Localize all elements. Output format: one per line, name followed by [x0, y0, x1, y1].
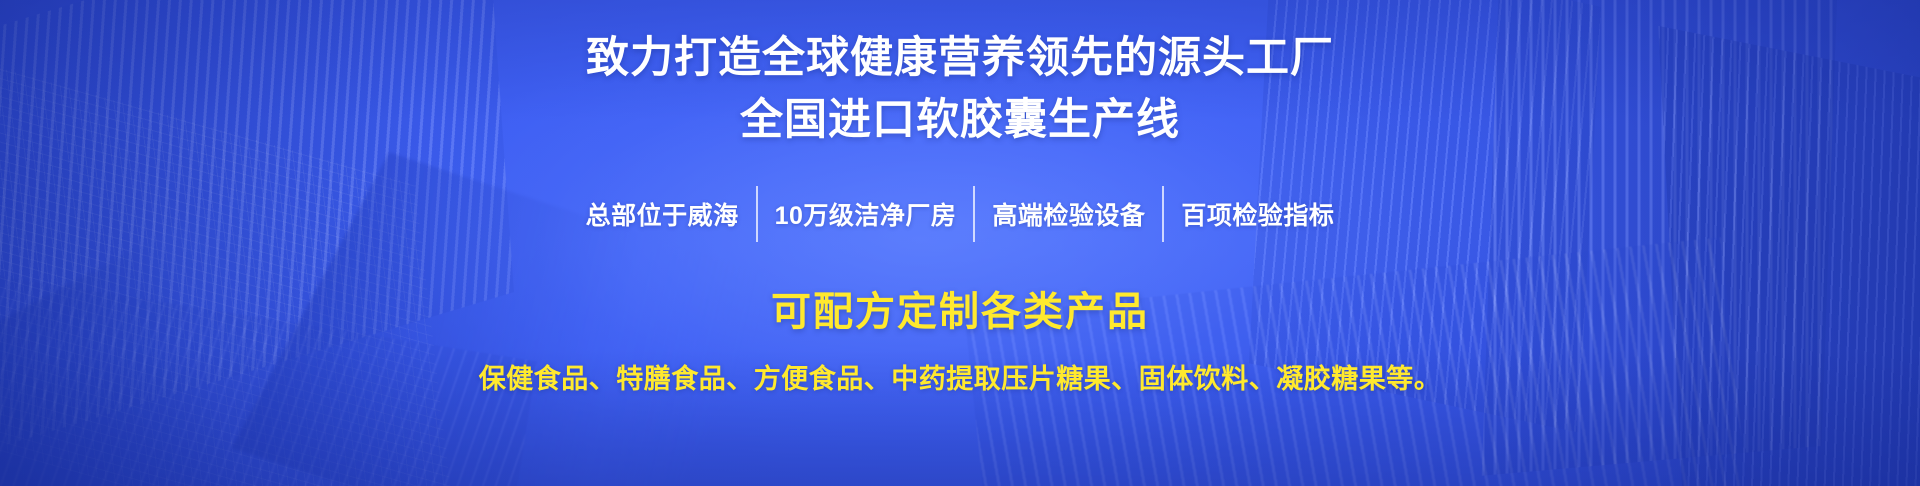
feature-item-headquarters: 总部位于威海: [569, 196, 756, 232]
feature-item-cleanroom: 10万级洁净厂房: [758, 196, 974, 232]
promo-product-list: 保健食品、特膳食品、方便食品、中药提取压片糖果、固体饮料、凝胶糖果等。: [479, 357, 1442, 396]
banner-headline-primary: 致力打造全球健康营养领先的源头工厂: [586, 36, 1334, 81]
feature-item-inspection-equipment: 高端检验设备: [975, 196, 1162, 232]
feature-highlight-row: 总部位于威海 10万级洁净厂房 高端检验设备 百项检验指标: [569, 186, 1352, 242]
banner-content: 致力打造全球健康营养领先的源头工厂 全国进口软胶囊生产线 总部位于威海 10万级…: [0, 0, 1920, 486]
banner-headline-secondary: 全国进口软胶囊生产线: [740, 98, 1180, 143]
feature-item-inspection-metrics: 百项检验指标: [1164, 196, 1351, 232]
promo-heading: 可配方定制各类产品: [771, 279, 1149, 337]
hero-banner: 致力打造全球健康营养领先的源头工厂 全国进口软胶囊生产线 总部位于威海 10万级…: [0, 0, 1920, 486]
